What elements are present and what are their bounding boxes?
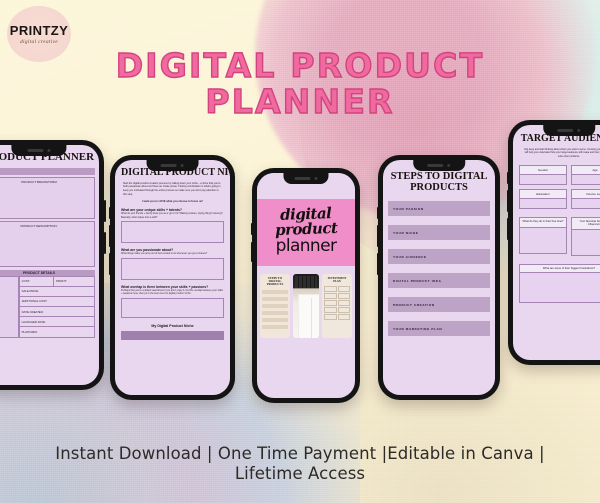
field-label: Age [571, 165, 600, 175]
phone-side-button [377, 225, 379, 247]
field-education[interactable]: Education [519, 189, 567, 209]
step-label: YOUR AUDIENCE [393, 255, 427, 259]
details-table: COST:PROFIT: SALE PRICE: ADDITIONAL COST… [19, 276, 95, 338]
speaker-icon [427, 164, 443, 167]
cover-thumbnails: STEPS TO DIGITAL PRODUCTS INVESTMENT PLA [257, 266, 355, 338]
answer-box-2[interactable] [121, 258, 224, 280]
question-1-hint: What do your friends + family know you a… [121, 212, 224, 219]
step-item[interactable]: DIGITAL PRODUCT IDEA [388, 273, 490, 288]
speaker-icon [28, 149, 44, 152]
cover-line-2: planner [257, 238, 355, 256]
speaker-icon [161, 164, 177, 167]
niche-footer-bar[interactable] [121, 331, 224, 340]
keyboard-icon [295, 276, 317, 288]
description-label: PRODUCT DESCRIPTION: [0, 222, 94, 228]
camera-icon [314, 177, 317, 180]
step-item[interactable]: YOUR AUDIENCE [388, 249, 490, 264]
thumbnail-cell [338, 286, 351, 292]
phone-notch [283, 173, 328, 184]
question-input[interactable] [571, 230, 600, 256]
open-notebook-image [298, 294, 319, 338]
table-row[interactable]: ADDITIONAL COST: [19, 296, 94, 306]
phone-side-button [507, 218, 509, 240]
field-input[interactable] [519, 175, 567, 185]
question-input[interactable] [519, 228, 567, 254]
question-frustrations[interactable]: What are some of their biggest frustrati… [519, 264, 600, 303]
thumbnail-investment-page[interactable]: INVESTMENT PLAN [322, 274, 352, 338]
phone-side-button [507, 172, 509, 184]
description-box[interactable]: PRODUCT DESCRIPTION: [0, 221, 95, 267]
table-row[interactable]: COST:PROFIT: [19, 276, 94, 286]
title-line-1: DIGITAL PRODUCT [0, 48, 600, 84]
phone-screen: PRODUCT PLANNER NAME: PRODUCT BRAINSTORM… [0, 145, 99, 385]
phone-side-button [251, 223, 253, 235]
table-row[interactable]: PLATFORM: [19, 327, 94, 337]
thumbnail-steps-title: STEPS TO DIGITAL PRODUCTS [262, 277, 288, 287]
phone-screen: DIGITAL PRODUCT NICHE Start the digital … [115, 160, 230, 395]
thumbnail-cell [324, 314, 337, 320]
phone-side-button [104, 200, 106, 222]
page-title: DIGITAL PRODUCT PLANNER [0, 48, 600, 119]
phone-side-button [109, 253, 111, 275]
question-label: Your favourite brands and influencers? [571, 217, 600, 230]
phone-mockup-target-audience: TARGET AUDIENCE Dig deep and start think… [508, 120, 600, 365]
cover-banner: digital product planner [257, 199, 355, 266]
thumbnail-cell [324, 307, 337, 313]
niche-intro-text: Start the digital product creation proce… [123, 182, 221, 196]
step-item[interactable]: YOUR MARKETING PLAN [388, 321, 490, 336]
field-input[interactable] [571, 199, 600, 209]
step-item[interactable]: YOUR NICHE [388, 225, 490, 240]
phone-side-button [109, 225, 111, 247]
audience-field-grid: Gender Age Education Income Level [519, 165, 600, 209]
brainstorm-label: PRODUCT BRAINSTORM [0, 178, 94, 184]
step-label: YOUR PASSION [393, 207, 424, 211]
cell-date-created: DATE CREATED: [19, 307, 94, 317]
step-label: DIGITAL PRODUCT IDEA [393, 279, 442, 283]
phone-notch [543, 125, 595, 136]
phone-mockup-cover: digital product planner STEPS TO DIGITAL… [252, 168, 360, 403]
cell-profit: PROFIT: [54, 276, 95, 286]
thumbnail-cell [338, 314, 351, 320]
question-label: What are some of their biggest frustrati… [519, 264, 600, 273]
cell-platform: PLATFORM: [19, 327, 94, 337]
field-label: Income Level [571, 189, 600, 199]
niche-intro-emphasis: I want you to LOVE what you choose to fo… [123, 200, 222, 204]
brand-tagline: digital creative [20, 39, 58, 45]
question-free-time[interactable]: What do they do in their free time? [519, 217, 567, 256]
thumbnail-row [262, 318, 288, 322]
table-row[interactable]: DATE CREATED: [19, 307, 94, 317]
thumbnail-cell [338, 300, 351, 306]
cell-sale-price: SALE PRICE: [19, 286, 94, 296]
question-2-hint: What things make you jump out of bed exc… [121, 252, 224, 255]
step-label: YOUR NICHE [393, 231, 418, 235]
steps-list: YOUR PASSION YOUR NICHE YOUR AUDIENCE DI… [388, 201, 490, 336]
phone-screen: digital product planner STEPS TO DIGITAL… [257, 173, 355, 398]
phone-side-button [109, 207, 111, 219]
phone-notch [413, 160, 465, 171]
camera-icon [577, 129, 580, 132]
question-label: What do they do in their free time? [519, 217, 567, 228]
thumbnail-investment-title: INVESTMENT PLAN [324, 277, 350, 283]
question-input[interactable] [519, 273, 600, 303]
thumbnail-steps-page[interactable]: STEPS TO DIGITAL PRODUCTS [260, 274, 290, 338]
steps-title-line-2: PRODUCTS [388, 182, 490, 193]
field-label: Gender [519, 165, 567, 175]
thumbnail-laptop-photo[interactable] [293, 274, 319, 338]
field-input[interactable] [519, 199, 567, 209]
phone-mockup-product-planner: PRODUCT PLANNER NAME: PRODUCT BRAINSTORM… [0, 140, 104, 390]
thumbnail-row [262, 304, 288, 308]
phone-side-button [104, 232, 106, 254]
thumbnail-grid [324, 286, 350, 320]
offer-caption: Instant Download | One Time Payment |Edi… [0, 444, 600, 485]
table-row[interactable]: LAUNCHED DATE: [19, 317, 94, 327]
audience-intro: Dig deep and start thinking about whom y… [519, 145, 600, 159]
audience-question-grid: What do they do in their free time? Your… [519, 217, 600, 256]
notes-label: NOTES: [0, 277, 18, 283]
step-item[interactable]: YOUR PASSION [388, 201, 490, 216]
phone-side-button [377, 253, 379, 275]
speaker-icon [557, 129, 573, 132]
thumbnail-cell [324, 293, 337, 299]
niche-intro: Start the digital product creation proce… [121, 179, 224, 204]
thumbnail-cell [338, 293, 351, 299]
speaker-icon [294, 177, 310, 180]
thumbnail-cell [338, 307, 351, 313]
phone-side-button [507, 190, 509, 212]
name-bar: NAME: [0, 168, 95, 175]
cell-cost: COST: [19, 276, 53, 286]
phone-screen: TARGET AUDIENCE Dig deep and start think… [513, 125, 600, 360]
answer-box-3[interactable] [121, 298, 224, 318]
field-age[interactable]: Age [571, 165, 600, 185]
field-gender[interactable]: Gender [519, 165, 567, 185]
phone-notch [11, 145, 66, 156]
cell-additional-cost: ADDITIONAL COST: [19, 296, 94, 306]
cell-launched-date: LAUNCHED DATE: [19, 317, 94, 327]
table-row[interactable]: SALE PRICE: [19, 286, 94, 296]
step-label: YOUR MARKETING PLAN [393, 327, 442, 331]
phone-notch [146, 160, 199, 171]
phone-screen: STEPS TO DIGITAL PRODUCTS YOUR PASSION Y… [383, 160, 495, 395]
phone-side-button [251, 242, 253, 262]
question-brands[interactable]: Your favourite brands and influencers? [571, 217, 600, 256]
camera-icon [181, 164, 184, 167]
step-label: PRODUCT CREATION [393, 303, 435, 307]
phone-mockup-niche: DIGITAL PRODUCT NICHE Start the digital … [110, 155, 235, 400]
phone-mockup-steps: STEPS TO DIGITAL PRODUCTS YOUR PASSION Y… [378, 155, 500, 400]
brand-logo: PRINTZY digital creative [7, 6, 71, 62]
thumbnail-row [262, 297, 288, 301]
thumbnail-cell [324, 286, 337, 292]
thumbnail-row [262, 325, 288, 329]
notes-box[interactable]: NOTES: [0, 276, 19, 338]
brand-name: PRINTZY [10, 24, 68, 37]
thumbnail-row [262, 311, 288, 315]
cover-line-1: digital product [257, 205, 355, 238]
poster-canvas: PRINTZY digital creative DIGITAL PRODUCT… [0, 0, 600, 503]
step-item[interactable]: PRODUCT CREATION [388, 297, 490, 312]
thumbnail-row [262, 290, 288, 294]
field-input[interactable] [571, 175, 600, 185]
question-3-hint: Perhaps that you're a skilled seamstress… [121, 289, 224, 296]
thumbnail-cell [324, 300, 337, 306]
field-income-level[interactable]: Income Level [571, 189, 600, 209]
camera-icon [447, 164, 450, 167]
camera-icon [48, 149, 51, 152]
phone-side-button [377, 207, 379, 219]
field-label: Education [519, 189, 567, 199]
answer-box-1[interactable] [121, 221, 224, 243]
title-line-2: PLANNER [0, 84, 600, 120]
brainstorm-box[interactable]: PRODUCT BRAINSTORM [0, 177, 95, 219]
niche-footer-label: My Digital Product Niche [121, 324, 224, 328]
